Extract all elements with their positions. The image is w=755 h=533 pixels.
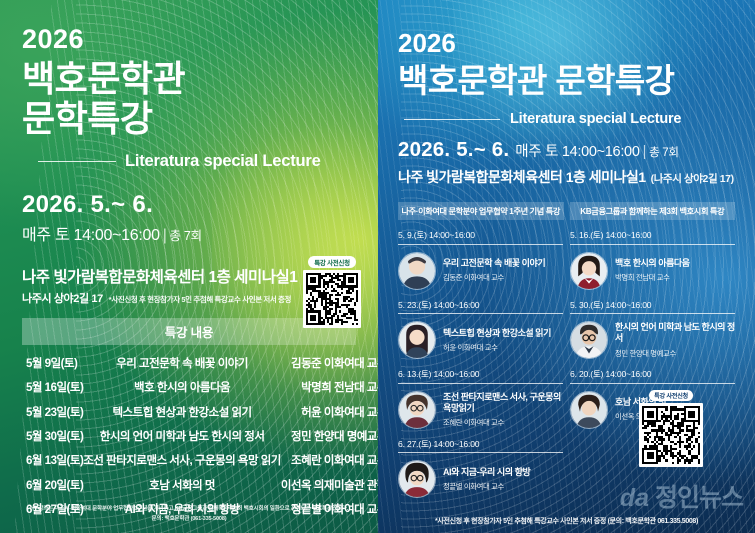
lecture-card: 백호 한시의 아름다움 박명희 전남대 교수 [570, 251, 735, 291]
green-when-prefix: 매주 토 14:00~16:00 [22, 227, 160, 244]
blue-when: 매주 토 14:00~16:00|총 7회 [515, 140, 678, 161]
lecture-card-text: 백호 한시의 아름다움 박명희 전남대 교수 [615, 258, 690, 283]
avatar [398, 391, 436, 429]
table-row: 5월 30일(토) 한시의 언어 미학과 남도 한시의 정서 정민 한양대 명예… [22, 424, 378, 448]
list-item: 5. 9.(토) 14:00~16:00 우리 고전문학 속 배꽃 이야기 김동… [398, 229, 563, 291]
green-subtitle-row: Literatura special Lecture [22, 152, 356, 171]
avatar [398, 321, 436, 359]
list-item: 5. 16.(토) 14:00~16:00 백호 한시의 아름다움 박명희 전남… [570, 229, 735, 291]
row-date: 5월 9일(토) [22, 351, 83, 375]
row-speaker: 정민 한양대 명예교수 [281, 424, 378, 448]
row-title: 조선 판타지로맨스 서사, 구운몽의 욕망 읽기 [83, 448, 281, 472]
green-subtitle: Literatura special Lecture [125, 152, 321, 171]
row-date: 5월 30일(토) [22, 424, 83, 448]
slot-rule [570, 244, 735, 245]
blue-period: 2026. 5.~ 6. [398, 138, 509, 162]
green-address: 나주시 상야2길 17 [22, 290, 103, 306]
blue-when-sep: | [643, 144, 646, 160]
lecture-card: 한시의 언어 미학과 남도 한시의 정서 정민 한양대 명예교수 [570, 320, 735, 360]
lecture-title: AI와 지금-우리 시의 향방 [443, 467, 530, 478]
lecture-speaker: 박명희 전남대 교수 [615, 272, 690, 283]
list-item: 5. 23.(토) 14:00~16:00 텍스트힙 현상과 한강소설 읽기 허… [398, 299, 563, 361]
lecture-card: 우리 고전문학 속 배꽃 이야기 김동준 이화여대 교수 [398, 251, 563, 291]
lecture-title: 한시의 언어 미학과 남도 한시의 정서 [615, 322, 735, 345]
table-row: 6월 13일(토) 조선 판타지로맨스 서사, 구운몽의 욕망 읽기 조혜란 이… [22, 448, 378, 472]
row-speaker: 허윤 이화여대 교수 [281, 399, 378, 423]
green-title-line1: 백호문학관 [22, 59, 356, 99]
lecture-card-text: 우리 고전문학 속 배꽃 이야기 김동준 이화여대 교수 [443, 258, 545, 283]
row-title: 백호 한시의 아름다움 [83, 375, 281, 399]
lecture-title: 우리 고전문학 속 배꽃 이야기 [443, 258, 545, 269]
blue-venue: 나주 빛가람복합문화체육센터 1층 세미나실1 [398, 167, 646, 187]
green-small-note: *사진신청 후 현장참가자 5인 추첨해 특강교수 사인본 저서 증정 [109, 294, 291, 305]
row-date: 5월 16일(토) [22, 375, 83, 399]
lecture-card-text: 한시의 언어 미학과 남도 한시의 정서 정민 한양대 명예교수 [615, 322, 735, 359]
blue-category-bar: 나주·이화여대 문학분야 업무협약 1주년 기념 특강 KB금융그룹과 함께하는… [398, 202, 735, 220]
avatar [398, 252, 436, 290]
slot-rule [398, 383, 563, 384]
blue-category-right: KB금융그룹과 함께하는 제3회 백호시회 특강 [570, 202, 736, 220]
blue-subtitle-row: Literatura special Lecture [398, 111, 735, 127]
blue-column-left: 5. 9.(토) 14:00~16:00 우리 고전문학 속 배꽃 이야기 김동… [398, 229, 563, 507]
lecture-card: 텍스트힙 현상과 한강소설 읽기 허윤 이화여대 교수 [398, 320, 563, 360]
qr-code-icon[interactable] [303, 270, 361, 328]
lecture-card-text: AI와 지금-우리 시의 향방 정끝별 이화여대 교수 [443, 467, 530, 492]
avatar [570, 321, 608, 359]
row-title: 한시의 언어 미학과 남도 한시의 정서 [83, 424, 281, 448]
lecture-speaker: 조혜란 이화여대 교수 [443, 417, 563, 428]
blue-venue-row: 나주 빛가람복합문화체육센터 1층 세미나실1 (나주시 상야2길 17) [398, 167, 735, 187]
lecture-card-text: 조선 판타지로맨스 서사, 구운몽의 욕망읽기 조혜란 이화여대 교수 [443, 392, 563, 429]
blue-qr-caption: 특강 사전신청 [649, 390, 693, 401]
row-speaker: 김동준 이화여대 교수 [281, 351, 378, 375]
slot-date: 6. 27.(토) 14:00~16:00 [398, 438, 563, 453]
green-schedule-table: 5월 9일(토) 우리 고전문학 속 배꽃 이야기 김동준 이화여대 교수 5월… [22, 351, 378, 522]
row-speaker: 조혜란 이화여대 교수 [281, 448, 378, 472]
green-subtitle-rule [38, 161, 116, 162]
lecture-speaker: 정민 한양대 명예교수 [615, 348, 735, 359]
lecture-card: 조선 판타지로맨스 서사, 구운몽의 욕망읽기 조혜란 이화여대 교수 [398, 390, 563, 430]
slot-rule [398, 244, 563, 245]
blue-poster: 2026 백호문학관 문학특강 Literatura special Lectu… [378, 0, 755, 533]
green-when-sep: | [163, 227, 167, 244]
blue-category-left: 나주·이화여대 문학분야 업무협약 1주년 기념 특강 [398, 202, 564, 220]
green-when: 매주 토 14:00~16:00|총 7회 [22, 221, 356, 245]
lecture-title: 텍스트힙 현상과 한강소설 읽기 [443, 328, 551, 339]
slot-date: 5. 16.(토) 14:00~16:00 [570, 229, 735, 244]
green-poster: 2026 백호문학관 문학특강 Literatura special Lectu… [0, 0, 378, 533]
slot-date: 6. 13.(토) 14:00~16:00 [398, 368, 563, 383]
slot-date: 6. 20.(토) 14:00~16:00 [570, 368, 735, 383]
lecture-speaker: 정끝별 이화여대 교수 [443, 481, 530, 492]
lecture-title: 조선 판타지로맨스 서사, 구운몽의 욕망읽기 [443, 392, 563, 415]
slot-rule [398, 313, 563, 314]
green-when-count: 총 7회 [170, 229, 202, 243]
blue-when-count: 총 7회 [649, 147, 679, 159]
row-speaker: 박명희 전남대 교수 [281, 375, 378, 399]
qr-code-icon[interactable] [639, 403, 703, 467]
lecture-card: AI와 지금-우리 시의 향방 정끝별 이화여대 교수 [398, 459, 563, 499]
row-speaker: 이선옥 의재미술관 관장 [281, 473, 378, 497]
blue-footnote: *사전신청 후 현장참가자 5인 추첨해 특강교수 사인본 저서 증정 (문의:… [378, 516, 755, 526]
row-title: 호남 서화의 멋 [83, 473, 281, 497]
slot-rule [570, 383, 735, 384]
slot-date: 5. 23.(토) 14:00~16:00 [398, 299, 563, 314]
green-footnote-line1: *본 강좌는 나주시-이화여대 문학분야 업무협약 1주년을 기념하고 KB금융… [8, 504, 370, 515]
list-item: 6. 27.(토) 14:00~16:00 AI와 지금-우리 시의 향방 정끝… [398, 438, 563, 500]
green-footnote-line2: 문의: 백호문학관 (061-335-5008) [8, 514, 370, 525]
blue-when-row: 2026. 5.~ 6. 매주 토 14:00~16:00|총 7회 [398, 138, 735, 162]
row-title: 텍스트힙 현상과 한강소설 읽기 [83, 399, 281, 423]
slot-rule [570, 313, 735, 314]
table-row: 5월 9일(토) 우리 고전문학 속 배꽃 이야기 김동준 이화여대 교수 [22, 351, 378, 375]
green-qr-block[interactable]: 특강 사전신청 [303, 252, 361, 328]
slot-rule [398, 452, 563, 453]
green-year: 2026 [22, 26, 356, 53]
list-item: 6. 13.(토) 14:00~16:00 조선 판타지로맨스 서사, 구운몽의… [398, 368, 563, 430]
slot-date: 5. 9.(토) 14:00~16:00 [398, 229, 563, 244]
green-qr-caption: 특강 사전신청 [308, 256, 356, 268]
blue-venue-address: (나주시 상야2길 17) [651, 171, 734, 186]
lecture-card-text: 텍스트힙 현상과 한강소설 읽기 허윤 이화여대 교수 [443, 328, 551, 353]
blue-year: 2026 [398, 30, 735, 56]
row-title: 우리 고전문학 속 배꽃 이야기 [83, 351, 281, 375]
lecture-speaker: 김동준 이화여대 교수 [443, 272, 545, 283]
row-date: 6월 13일(토) [22, 448, 83, 472]
avatar [398, 460, 436, 498]
list-item: 5. 30.(토) 14:00~16:00 한시의 언어 미학과 남도 한시의 … [570, 299, 735, 361]
table-row: 5월 23일(토) 텍스트힙 현상과 한강소설 읽기 허윤 이화여대 교수 [22, 399, 378, 423]
lecture-speaker: 허윤 이화여대 교수 [443, 342, 551, 353]
green-schedule-body: 5월 9일(토) 우리 고전문학 속 배꽃 이야기 김동준 이화여대 교수 5월… [22, 351, 378, 522]
green-period: 2026. 5.~ 6. [22, 191, 356, 219]
table-row: 5월 16일(토) 백호 한시의 아름다움 박명희 전남대 교수 [22, 375, 378, 399]
lecture-title: 백호 한시의 아름다움 [615, 258, 690, 269]
table-row: 6월 20일(토) 호남 서화의 멋 이선옥 의재미술관 관장 [22, 473, 378, 497]
green-footnote: *본 강좌는 나주시-이화여대 문학분야 업무협약 1주년을 기념하고 KB금융… [0, 504, 378, 525]
slot-date: 5. 30.(토) 14:00~16:00 [570, 299, 735, 314]
blue-when-prefix: 매주 토 14:00~16:00 [515, 144, 639, 160]
row-date: 5월 23일(토) [22, 399, 83, 423]
blue-subtitle-rule [404, 119, 500, 120]
avatar [570, 252, 608, 290]
green-title-line2: 문학특강 [22, 99, 356, 139]
row-date: 6월 20일(토) [22, 473, 83, 497]
blue-title: 백호문학관 문학특강 [398, 63, 735, 99]
blue-subtitle: Literatura special Lecture [510, 111, 681, 127]
blue-qr-block[interactable]: 특강 사전신청 [639, 385, 703, 467]
avatar [570, 391, 608, 429]
